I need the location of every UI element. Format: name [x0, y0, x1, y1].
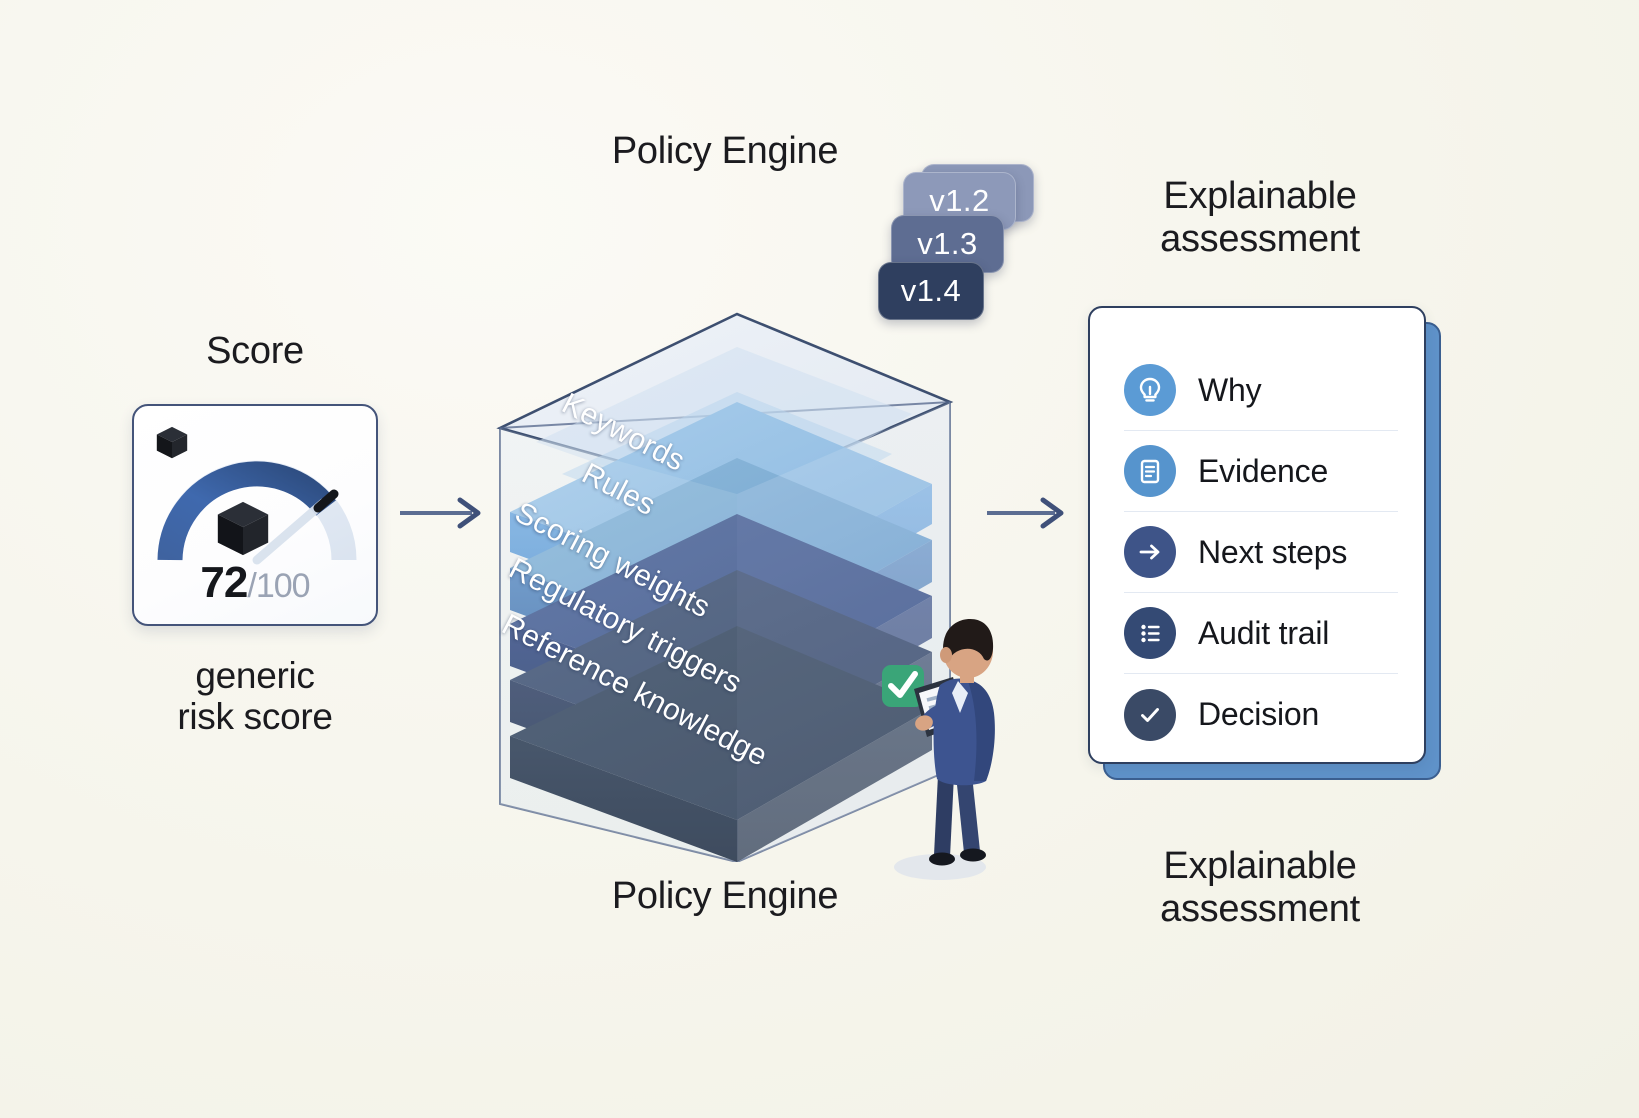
- reviewer-person: [880, 615, 1020, 890]
- list-item-label: Why: [1198, 372, 1261, 409]
- score-card: 72/100: [132, 404, 378, 626]
- list-icon: [1124, 607, 1176, 659]
- explainable-heading-bottom: Explainable assessment: [1095, 845, 1425, 930]
- document-icon: [1124, 445, 1176, 497]
- list-item[interactable]: Next steps: [1124, 512, 1398, 593]
- diagram-canvas: Score: [0, 0, 1639, 1118]
- lightbulb-icon: [1124, 364, 1176, 416]
- score-caption: generic risk score: [112, 655, 398, 738]
- cube-icon: [212, 498, 274, 560]
- check-icon: [1124, 689, 1176, 741]
- score-heading: Score: [132, 330, 378, 373]
- score-value-denominator: /100: [247, 567, 309, 605]
- assessment-panel: Why Evidence Next steps: [1088, 306, 1426, 764]
- list-item[interactable]: Why: [1124, 350, 1398, 431]
- list-item-label: Evidence: [1198, 453, 1328, 490]
- arrow-score-to-engine: [398, 494, 490, 532]
- list-item-label: Decision: [1198, 696, 1319, 733]
- list-item[interactable]: Decision: [1124, 674, 1398, 755]
- score-value-row: 72/100: [134, 558, 376, 608]
- version-badge-v14[interactable]: v1.4: [878, 262, 984, 320]
- policy-engine-heading-bottom: Policy Engine: [530, 875, 920, 918]
- policy-engine-heading-top: Policy Engine: [530, 130, 920, 173]
- arrow-engine-to-assessment: [985, 494, 1073, 532]
- score-value-number: 72: [200, 558, 247, 607]
- arrow-right-icon: [1124, 526, 1176, 578]
- explainable-heading-top: Explainable assessment: [1095, 175, 1425, 260]
- list-item[interactable]: Evidence: [1124, 431, 1398, 512]
- list-item-label: Audit trail: [1198, 615, 1329, 652]
- list-item-label: Next steps: [1198, 534, 1347, 571]
- list-item[interactable]: Audit trail: [1124, 593, 1398, 674]
